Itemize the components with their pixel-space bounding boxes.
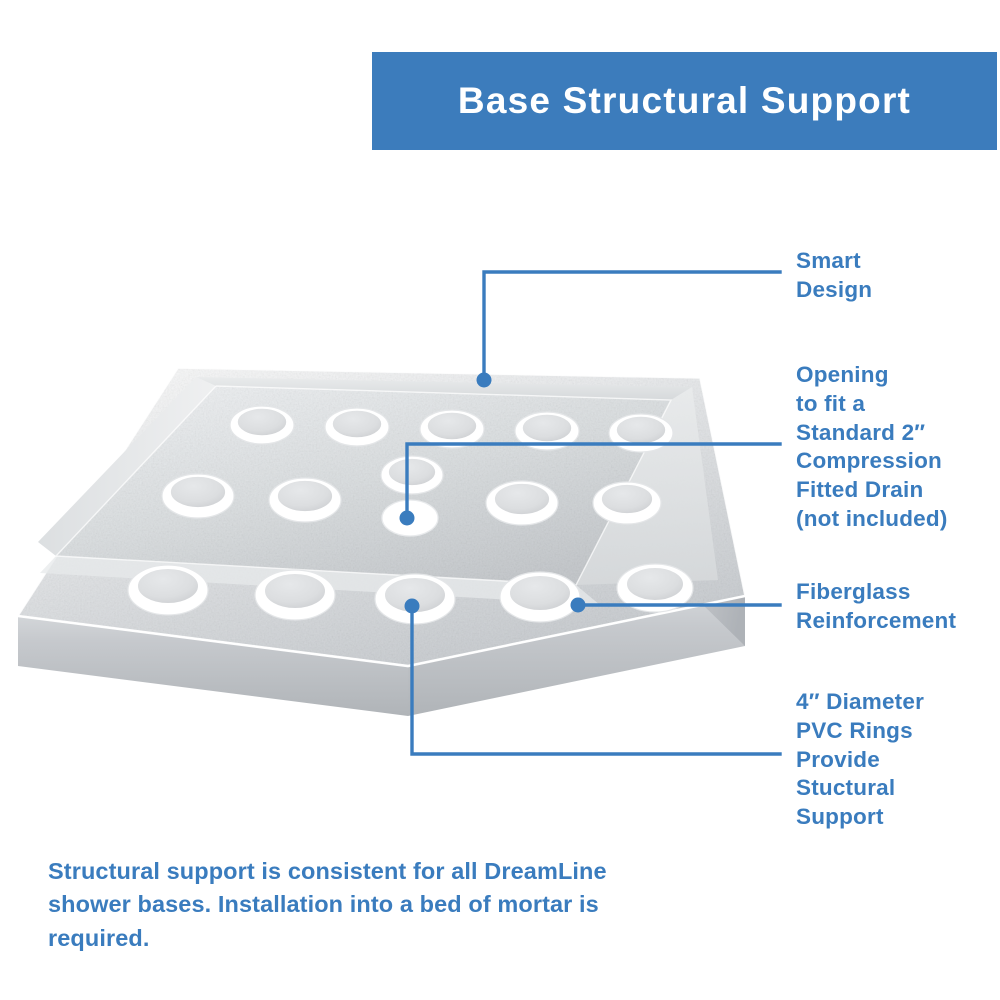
pvc-ring <box>420 410 484 448</box>
shower-base-3d-graphic <box>0 330 800 750</box>
pvc-ring <box>325 408 389 446</box>
drain-opening <box>382 500 438 536</box>
pvc-ring <box>500 572 580 622</box>
pvc-ring <box>255 570 335 620</box>
pvc-ring <box>128 565 208 615</box>
page-title: Base Structural Support <box>458 80 911 122</box>
pvc-ring <box>515 412 579 450</box>
callout-label-fiberglass-reinforcement: Fiberglass Reinforcement <box>796 578 996 636</box>
callout-label-drain-opening: Opening to fit a Standard 2″ Compression… <box>796 361 1000 534</box>
callout-label-smart-design: Smart Design <box>796 247 996 305</box>
pvc-ring <box>486 481 558 525</box>
product-illustration <box>0 330 800 750</box>
pvc-ring <box>609 414 673 452</box>
pvc-ring <box>375 574 455 624</box>
pvc-ring <box>617 564 693 612</box>
callout-label-pvc-rings: 4″ Diameter PVC Rings Provide Stuctural … <box>796 688 996 832</box>
pvc-ring <box>269 478 341 522</box>
pvc-ring <box>230 406 294 444</box>
pvc-ring <box>381 456 443 494</box>
infographic-page: Base Structural Support <box>0 0 1000 1000</box>
pvc-ring <box>162 474 234 518</box>
footnote-text: Structural support is consistent for all… <box>48 855 688 955</box>
pvc-ring <box>593 482 661 524</box>
header-banner: Base Structural Support <box>372 52 997 150</box>
